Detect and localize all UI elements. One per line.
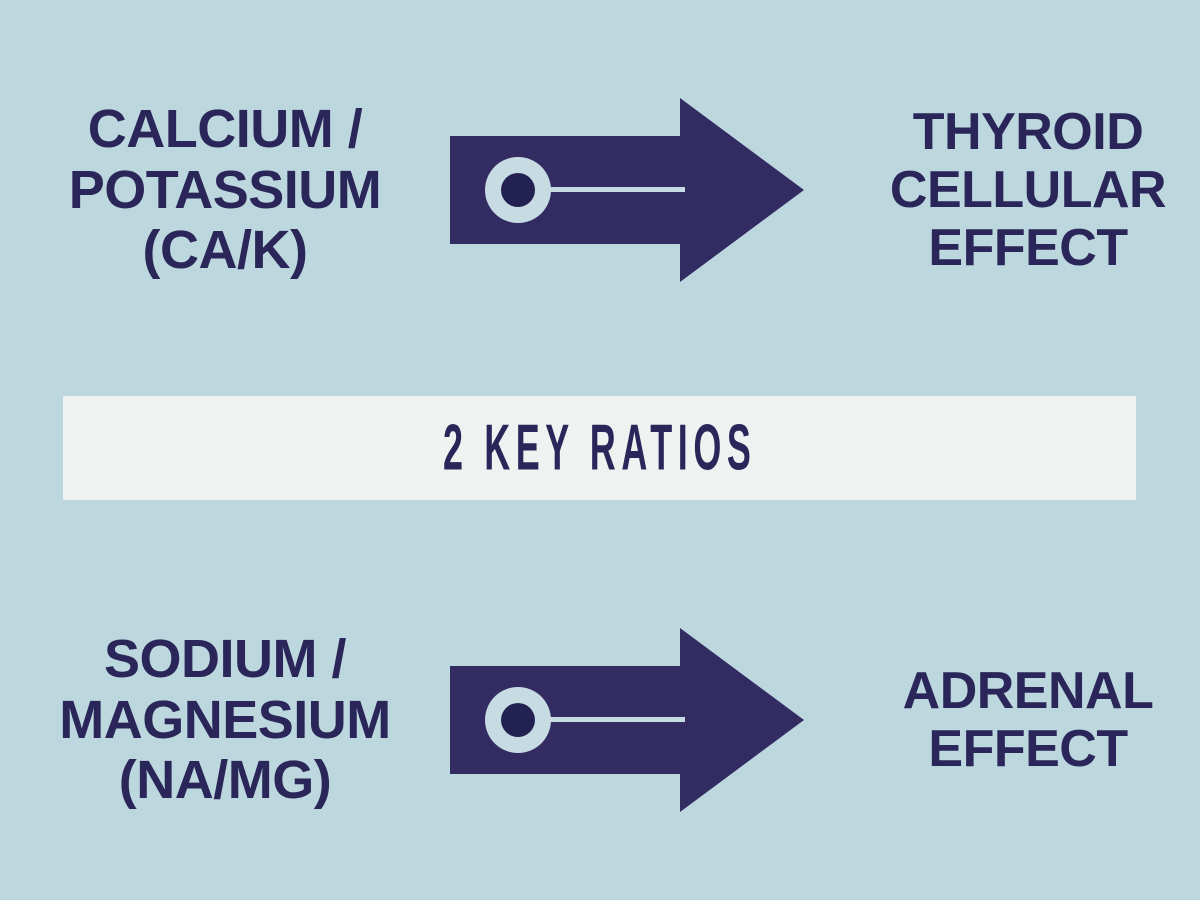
arrow-sodium-magnesium	[440, 610, 830, 830]
ratio-row-sodium-magnesium: SODIUM / MAGNESIUM (NA/MG) ADRENAL EFFEC…	[0, 590, 1200, 850]
ratio-row-calcium-potassium: CALCIUM / POTASSIUM (CA/K) THYROID CELLU…	[0, 60, 1200, 320]
key-ratios-banner: 2 KEY RATIOS	[63, 396, 1136, 500]
banner-title: 2 KEY RATIOS	[443, 416, 756, 481]
source-label-calcium-potassium: CALCIUM / POTASSIUM (CA/K)	[0, 99, 440, 280]
right-arrow-with-dot-icon	[440, 610, 830, 830]
target-label-adrenal-effect: ADRENAL EFFECT	[830, 662, 1200, 778]
infographic-canvas: CALCIUM / POTASSIUM (CA/K) THYROID CELLU…	[0, 0, 1200, 900]
arrow-calcium-potassium	[440, 80, 830, 300]
right-arrow-with-dot-icon	[440, 80, 830, 300]
target-label-thyroid-cellular-effect: THYROID CELLULAR EFFECT	[830, 103, 1200, 278]
source-label-sodium-magnesium: SODIUM / MAGNESIUM (NA/MG)	[0, 629, 440, 810]
